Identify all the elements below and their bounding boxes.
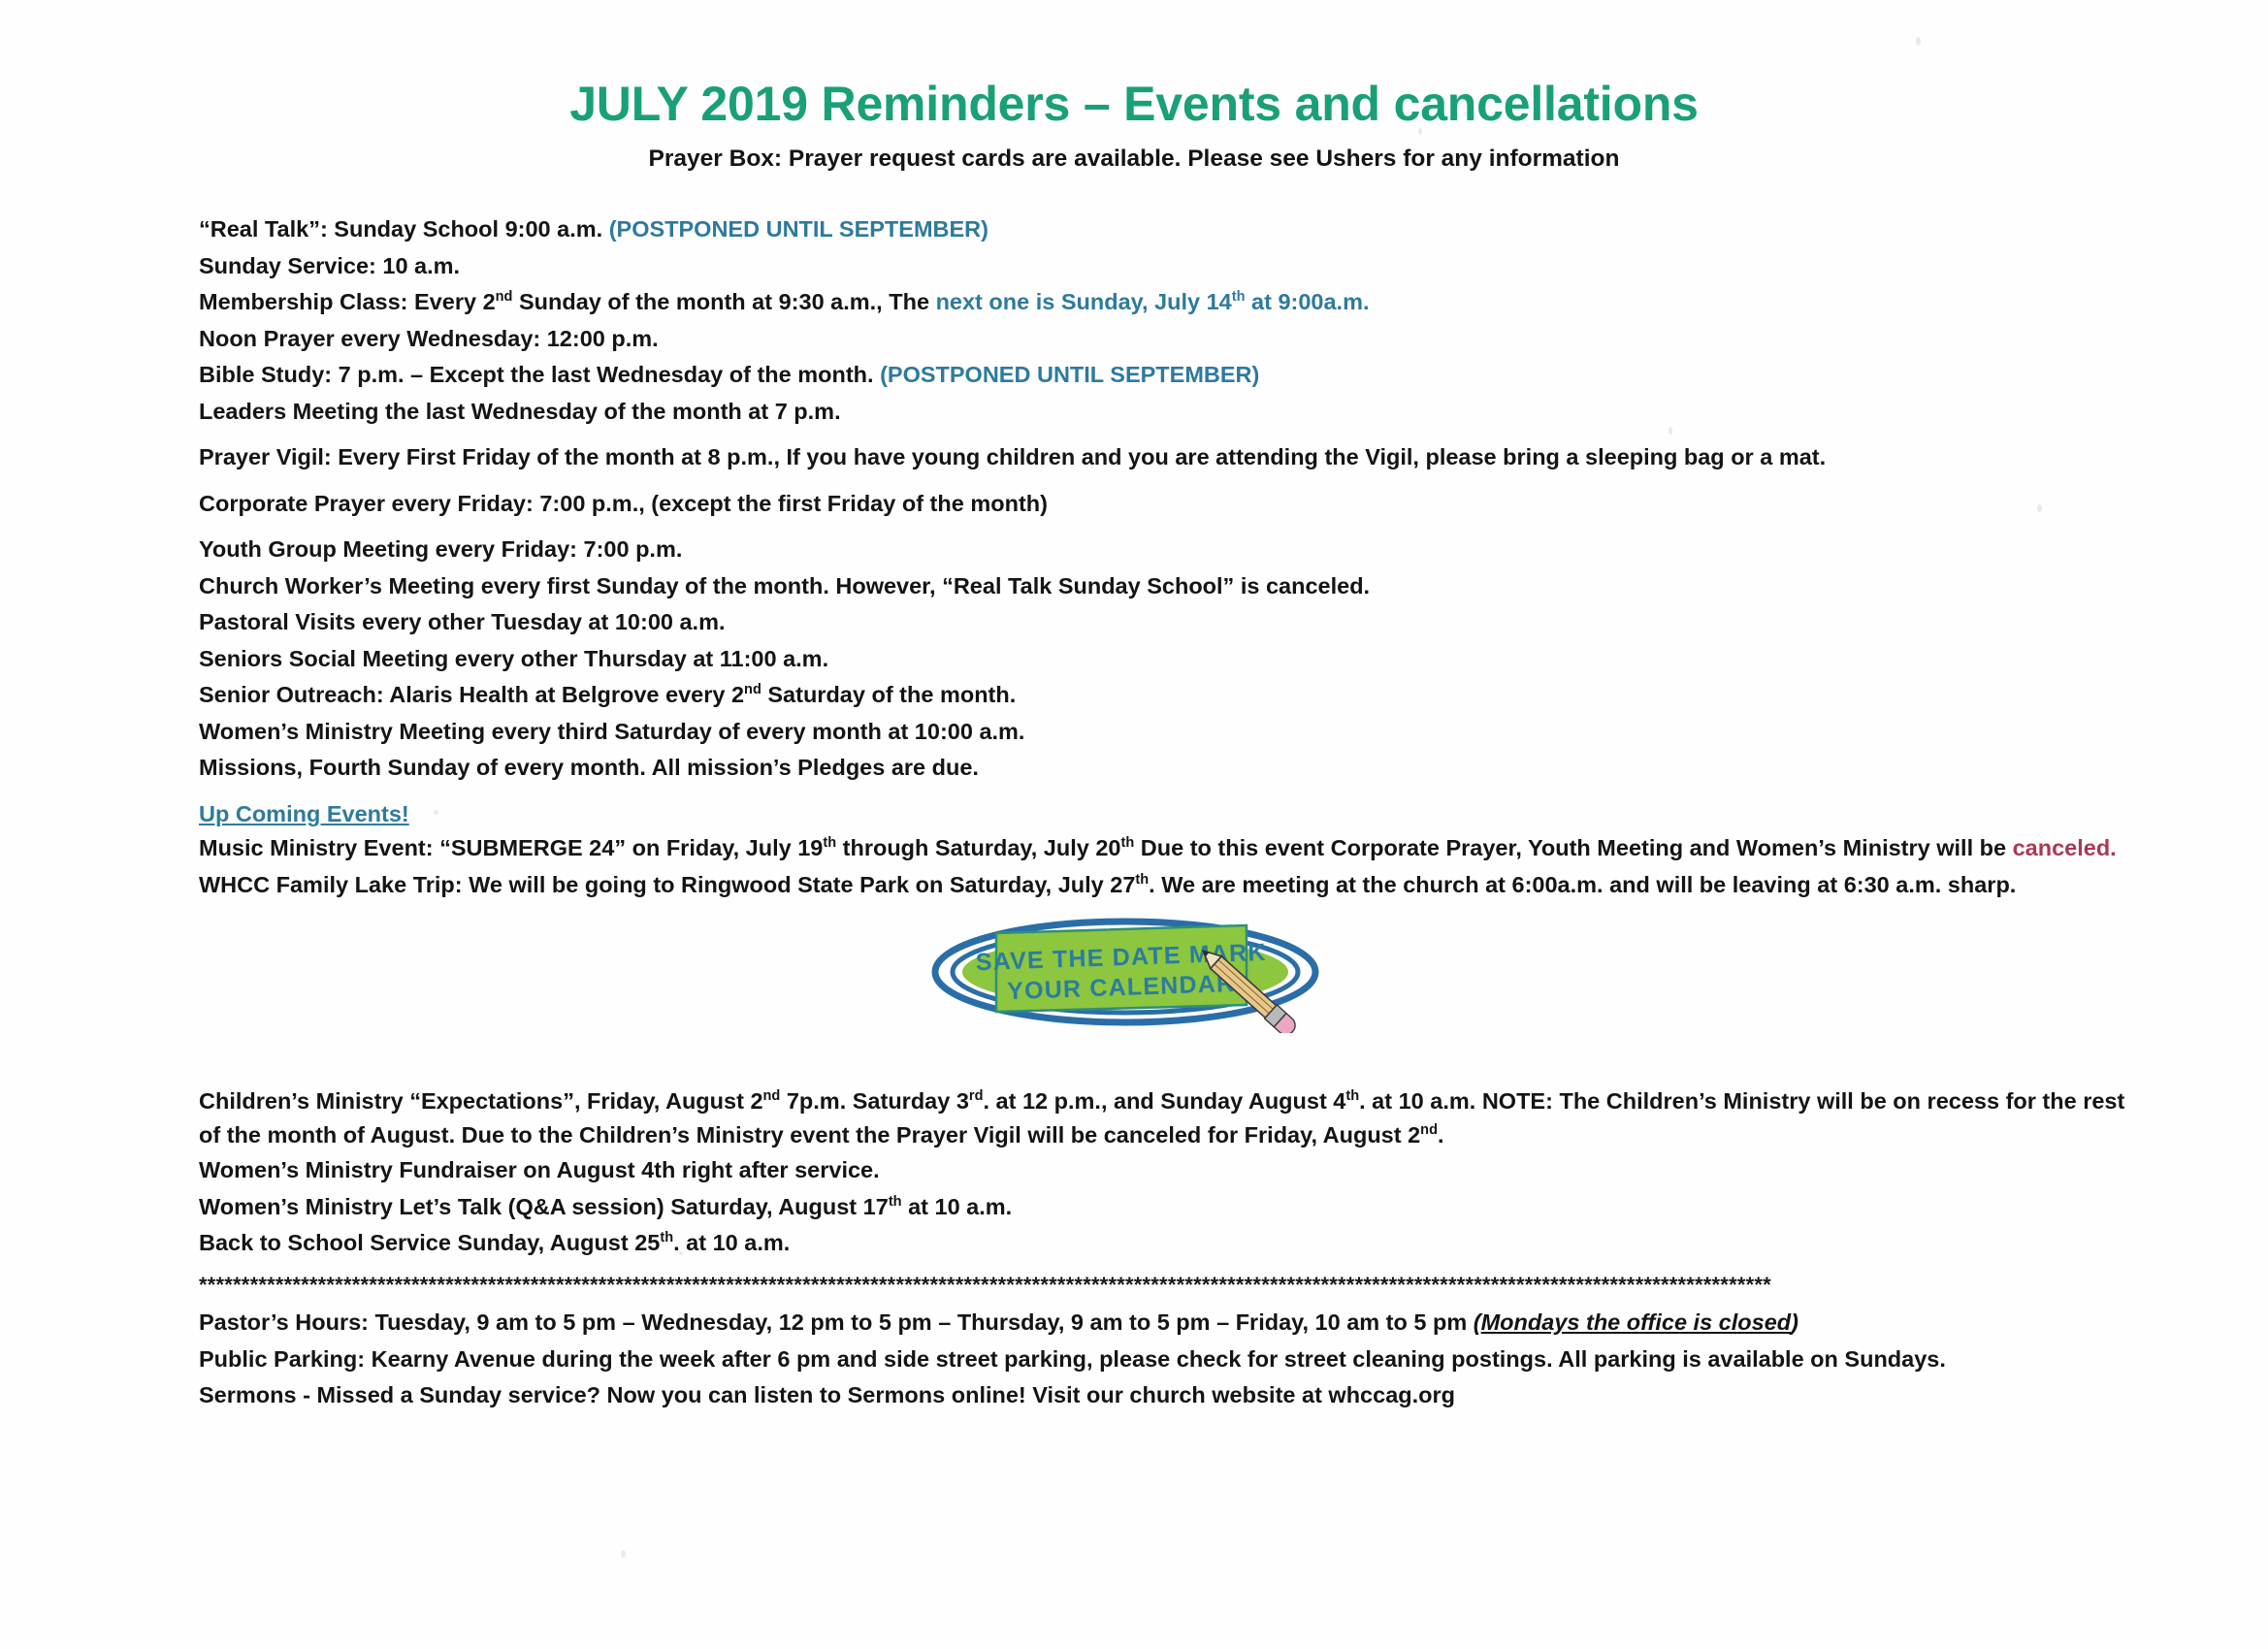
childrens-ministry-part1: Children’s Ministry “Expectations”, Frid… (199, 1088, 763, 1114)
bible-study-text: Bible Study: 7 p.m. – Except the last We… (199, 362, 874, 387)
back-to-school-ordinal: th (660, 1230, 673, 1245)
childrens-ministry-part3: . at 12 p.m., and Sunday August 4 (983, 1088, 1345, 1114)
music-ministry-part1: Music Ministry Event: “SUBMERGE 24” on F… (199, 835, 823, 860)
footer-item-sermons: Sermons - Missed a Sunday service? Now y… (199, 1377, 2149, 1414)
schedule-item-prayer-vigil: Prayer Vigil: Every First Friday of the … (199, 439, 2149, 476)
membership-text-before: Membership Class: Every 2 (199, 289, 496, 314)
schedule-item-sunday-service: Sunday Service: 10 a.m. (199, 248, 2149, 285)
schedule-item-corporate-prayer: Corporate Prayer every Friday: 7:00 p.m.… (199, 486, 2149, 523)
back-to-school-part1: Back to School Service Sunday, August 25 (199, 1230, 660, 1255)
schedule-item-noon-prayer: Noon Prayer every Wednesday: 12:00 p.m. (199, 321, 2149, 358)
membership-note-after: at 9:00a.m. (1245, 289, 1369, 314)
schedule-item-bible-study: Bible Study: 7 p.m. – Except the last We… (199, 357, 2149, 394)
document-page: JULY 2019 Reminders – Events and cancell… (0, 0, 2268, 1649)
scan-speck (621, 1550, 626, 1558)
schedule-item-womens-ministry-meeting: Women’s Ministry Meeting every third Sat… (199, 714, 2149, 751)
lets-talk-part2: at 10 a.m. (902, 1194, 1013, 1219)
childrens-ministry-ordinal-1: nd (763, 1088, 781, 1104)
music-ministry-part2: through Saturday, July 20 (836, 835, 1120, 860)
lets-talk-ordinal: th (889, 1194, 902, 1210)
membership-ordinal: nd (496, 289, 513, 305)
schedule-item-missions: Missions, Fourth Sunday of every month. … (199, 750, 2149, 787)
music-ministry-ordinal-1: th (823, 835, 836, 851)
real-talk-text: “Real Talk”: Sunday School 9:00 a.m. (199, 216, 602, 242)
pastors-hours-text: Pastor’s Hours: Tuesday, 9 am to 5 pm – … (199, 1309, 1474, 1335)
lake-trip-ordinal: th (1135, 872, 1149, 888)
music-ministry-canceled: canceled. (2013, 835, 2117, 860)
music-ministry-part3: Due to this event Corporate Prayer, Yout… (1134, 835, 2012, 860)
bible-study-note: (POSTPONED UNTIL SEPTEMBER) (880, 362, 1259, 387)
schedule-item-seniors-social: Seniors Social Meeting every other Thurs… (199, 641, 2149, 678)
music-ministry-ordinal-2: th (1120, 835, 1134, 851)
asterisk-divider: ****************************************… (199, 1273, 2139, 1298)
childrens-ministry-part2: 7p.m. Saturday 3 (780, 1088, 969, 1114)
schedule-item-real-talk: “Real Talk”: Sunday School 9:00 a.m. (PO… (199, 211, 2149, 248)
lets-talk-part1: Women’s Ministry Let’s Talk (Q&A session… (199, 1194, 889, 1219)
scan-speck (1916, 37, 1921, 46)
schedule-item-church-workers: Church Worker’s Meeting every first Sund… (199, 568, 2149, 605)
save-the-date-badge: SAVE THE DATE MARK YOUR CALENDAR SAVE TH… (926, 912, 1334, 1033)
schedule-item-youth-group: Youth Group Meeting every Friday: 7:00 p… (199, 532, 2149, 568)
upcoming-item-music-ministry: Music Ministry Event: “SUBMERGE 24” on F… (199, 830, 2149, 867)
real-talk-note: (POSTPONED UNTIL SEPTEMBER) (609, 216, 988, 242)
childrens-ministry-ordinal-2: rd (969, 1088, 984, 1104)
senior-outreach-after: Saturday of the month. (761, 682, 1016, 707)
schedule-item-pastoral-visits: Pastoral Visits every other Tuesday at 1… (199, 604, 2149, 641)
membership-text-mid: Sunday of the month at 9:30 a.m., The (512, 289, 935, 314)
schedule-item-leaders-meeting: Leaders Meeting the last Wednesday of th… (199, 394, 2149, 431)
footer-item-public-parking: Public Parking: Kearny Avenue during the… (199, 1342, 2149, 1378)
childrens-ministry-part5: . (1438, 1122, 1444, 1148)
august-item-lets-talk: Women’s Ministry Let’s Talk (Q&A session… (199, 1189, 2149, 1226)
senior-outreach-before: Senior Outreach: Alaris Health at Belgro… (199, 682, 744, 707)
upcoming-events-heading: Up Coming Events! (199, 797, 2149, 830)
page-title: JULY 2019 Reminders – Events and cancell… (0, 76, 2268, 132)
pastors-hours-paren-close: ) (1791, 1309, 1798, 1335)
august-item-childrens-ministry: Children’s Ministry “Expectations”, Frid… (199, 1084, 2149, 1152)
footer-item-pastors-hours: Pastor’s Hours: Tuesday, 9 am to 5 pm – … (199, 1305, 2149, 1342)
senior-outreach-ordinal: nd (744, 682, 761, 697)
pastors-hours-paren-open: ( (1474, 1309, 1481, 1335)
membership-note-before: next one is Sunday, July 14 (936, 289, 1232, 314)
weekly-schedule-list: “Real Talk”: Sunday School 9:00 a.m. (PO… (199, 211, 2149, 787)
back-to-school-part2: . at 10 a.m. (673, 1230, 790, 1255)
membership-note-ordinal: th (1232, 289, 1246, 305)
schedule-item-membership-class: Membership Class: Every 2nd Sunday of th… (199, 284, 2149, 321)
august-item-fundraiser: Women’s Ministry Fundraiser on August 4t… (199, 1152, 2149, 1189)
upcoming-events-section: Up Coming Events! Music Ministry Event: … (199, 797, 2149, 903)
upcoming-item-lake-trip: WHCC Family Lake Trip: We will be going … (199, 867, 2149, 904)
childrens-ministry-ordinal-3: th (1345, 1088, 1359, 1104)
lake-trip-part1: WHCC Family Lake Trip: We will be going … (199, 872, 1135, 897)
schedule-item-senior-outreach: Senior Outreach: Alaris Health at Belgro… (199, 677, 2149, 714)
august-events-section: Children’s Ministry “Expectations”, Frid… (199, 1084, 2149, 1262)
pastors-hours-note: Mondays the office is closed (1481, 1309, 1792, 1335)
prayer-box-subtitle: Prayer Box: Prayer request cards are ava… (0, 145, 2268, 173)
august-item-back-to-school: Back to School Service Sunday, August 25… (199, 1225, 2149, 1262)
lake-trip-part2: . We are meeting at the church at 6:00a.… (1149, 872, 2016, 897)
footer-info-section: Pastor’s Hours: Tuesday, 9 am to 5 pm – … (199, 1305, 2149, 1414)
childrens-ministry-ordinal-4: nd (1420, 1122, 1438, 1138)
